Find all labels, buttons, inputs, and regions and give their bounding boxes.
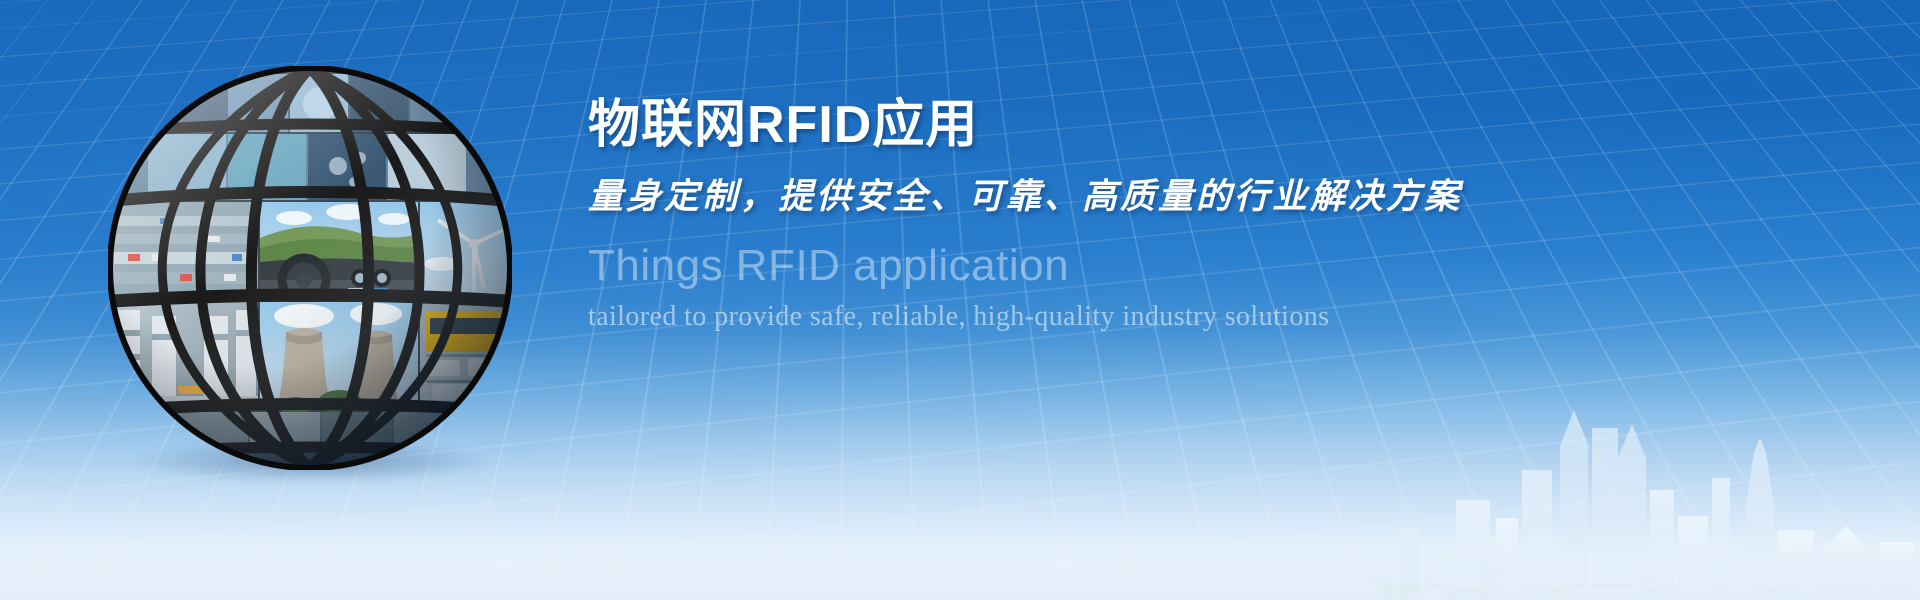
banner-english-title: Things RFID application (588, 241, 1588, 291)
banner-headline: 物联网RFID应用 (588, 96, 1588, 156)
horizon-fade (0, 540, 1920, 600)
hero-banner: 物联网RFID应用 量身定制，提供安全、可靠、高质量的行业解决方案 Things… (0, 0, 1920, 600)
photo-mosaic-globe-icon (108, 66, 512, 470)
banner-copy: 物联网RFID应用 量身定制，提供安全、可靠、高质量的行业解决方案 Things… (588, 96, 1588, 333)
banner-subline: 量身定制，提供安全、可靠、高质量的行业解决方案 (588, 168, 1588, 219)
banner-english-tagline: tailored to provide safe, reliable, high… (588, 301, 1588, 333)
